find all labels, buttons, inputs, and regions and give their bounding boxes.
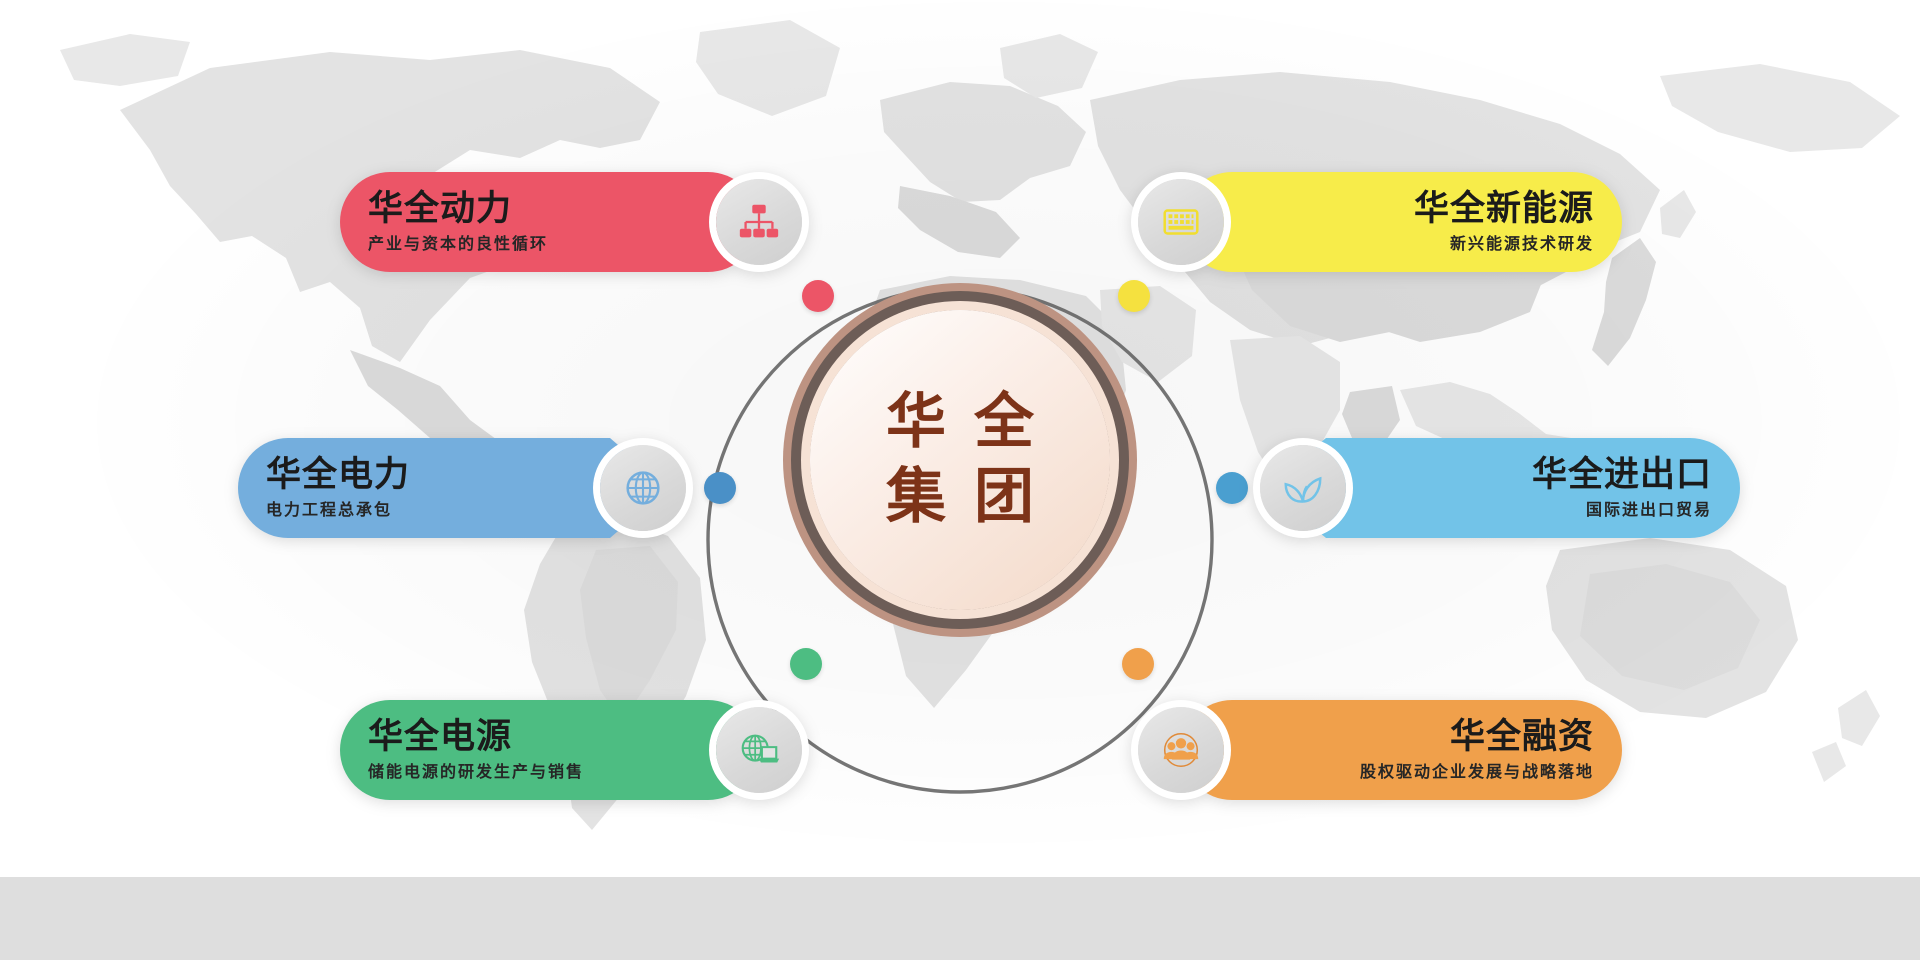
card-import-export-subtitle: 国际进出口贸易 [1586, 502, 1712, 519]
card-import-export-text: 华全进出口 国际进出口贸易 [1532, 457, 1712, 518]
card-finance-text: 华全融资 股权驱动企业发展与战略落地 [1360, 719, 1594, 780]
card-power-text: 华全动力 产业与资本的良性循环 [368, 191, 548, 252]
orbit-dot-electric[interactable] [704, 472, 736, 504]
center-emblem-text: 华 全 集 团 [886, 387, 1034, 533]
center-char-4: 团 [974, 462, 1034, 533]
infographic-canvas: 华 全 集 团 华全动力 产业与资本的良性循环 [0, 0, 1920, 960]
center-emblem: 华 全 集 团 [810, 310, 1110, 610]
card-power-supply[interactable]: 华全电源 储能电源的研发生产与销售 [340, 700, 780, 800]
globe-icon[interactable] [600, 445, 686, 531]
card-import-export[interactable]: 华全进出口 国际进出口贸易 [1258, 438, 1740, 538]
card-power-subtitle: 产业与资本的良性循环 [368, 236, 548, 253]
card-new-energy-subtitle: 新兴能源技术研发 [1450, 236, 1594, 253]
center-char-2: 全 [974, 387, 1034, 458]
card-power-supply-title: 华全电源 [368, 719, 512, 756]
globe-laptop-icon[interactable] [716, 707, 802, 793]
card-new-energy-title: 华全新能源 [1414, 191, 1594, 228]
people-group-icon[interactable] [1138, 707, 1224, 793]
org-chart-icon[interactable] [716, 179, 802, 265]
card-electric-power-text: 华全电力 电力工程总承包 [266, 457, 410, 518]
card-finance-title: 华全融资 [1450, 719, 1594, 756]
bottom-strip [0, 877, 1920, 960]
card-finance[interactable]: 华全融资 股权驱动企业发展与战略落地 [1160, 700, 1622, 800]
card-new-energy-text: 华全新能源 新兴能源技术研发 [1414, 191, 1594, 252]
leaf-icon[interactable] [1260, 445, 1346, 531]
card-electric-power[interactable]: 华全电力 电力工程总承包 [238, 438, 682, 538]
card-power[interactable]: 华全动力 产业与资本的良性循环 [340, 172, 780, 272]
center-char-3: 集 [886, 462, 946, 533]
orbit-dot-power[interactable] [802, 280, 834, 312]
card-finance-subtitle: 股权驱动企业发展与战略落地 [1360, 764, 1594, 781]
card-power-supply-subtitle: 储能电源的研发生产与销售 [368, 764, 584, 781]
card-electric-power-title: 华全电力 [266, 457, 410, 494]
solar-panel-icon[interactable] [1138, 179, 1224, 265]
card-power-title: 华全动力 [368, 191, 512, 228]
card-import-export-title: 华全进出口 [1532, 457, 1712, 494]
card-new-energy[interactable]: 华全新能源 新兴能源技术研发 [1160, 172, 1622, 272]
orbit-dot-newenergy[interactable] [1118, 280, 1150, 312]
orbit-dot-finance[interactable] [1122, 648, 1154, 680]
card-electric-power-subtitle: 电力工程总承包 [266, 502, 392, 519]
center-char-1: 华 [886, 387, 946, 458]
orbit-dot-import-export[interactable] [1216, 472, 1248, 504]
card-power-supply-text: 华全电源 储能电源的研发生产与销售 [368, 719, 584, 780]
orbit-dot-supply[interactable] [790, 648, 822, 680]
